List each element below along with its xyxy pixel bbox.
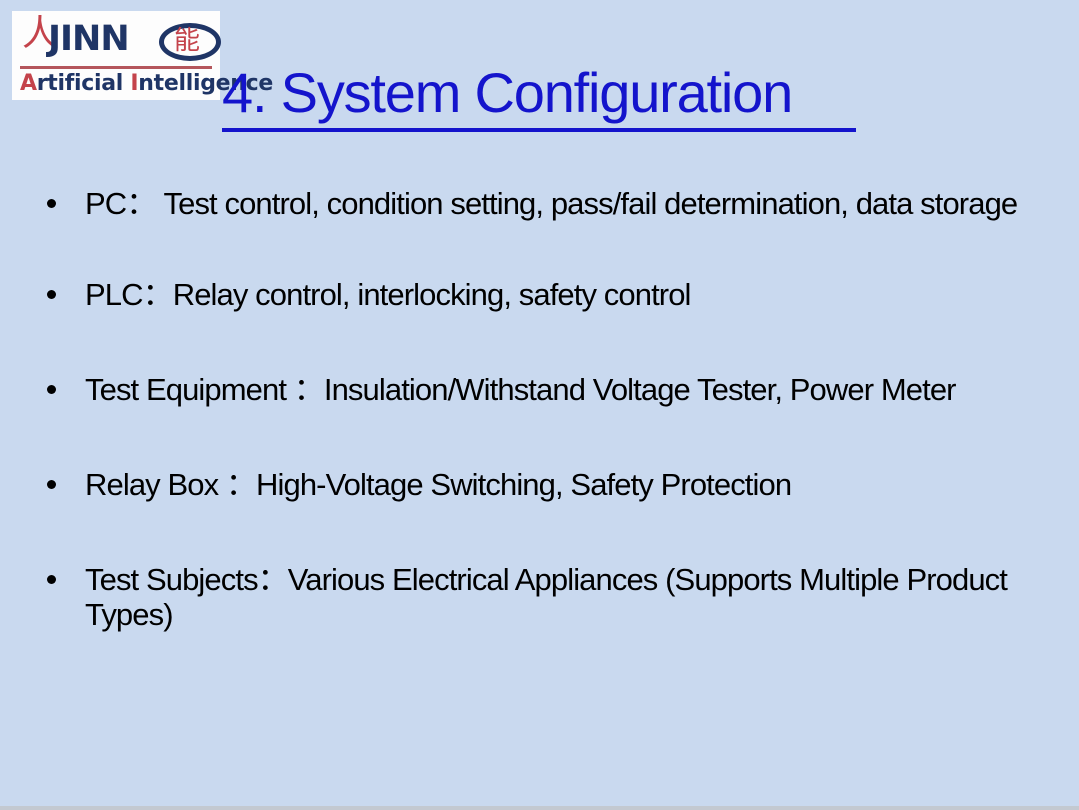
bullet-dot-icon bbox=[47, 480, 56, 489]
bullet-dot-icon bbox=[47, 290, 56, 299]
logo-mark: 人 JINN 能 bbox=[20, 15, 212, 67]
logo-wordmark: JINN bbox=[48, 22, 129, 57]
bullet-dot-icon bbox=[47, 199, 56, 208]
list-item-label: Test Equipment ：Insulation/Withstand Vol… bbox=[85, 372, 1050, 407]
bullet-dot-icon bbox=[47, 575, 56, 584]
logo-neng-character-icon: 能 bbox=[174, 27, 200, 55]
list-item-label: PC： Test control, condition setting, pas… bbox=[85, 186, 1050, 221]
list-item: PC： Test control, condition setting, pas… bbox=[40, 186, 1050, 221]
company-logo: 人 JINN 能 Artificial Intelligence bbox=[12, 11, 220, 100]
list-item: PLC：Relay control, interlocking, safety … bbox=[40, 277, 1050, 312]
logo-subtitle-rtificial: rtificial bbox=[37, 71, 131, 96]
slide-canvas: 人 JINN 能 Artificial Intelligence 4. Syst… bbox=[0, 0, 1079, 810]
list-item: Test Equipment ：Insulation/Withstand Vol… bbox=[40, 372, 1050, 407]
list-item: Relay Box ：High-Voltage Switching, Safet… bbox=[40, 467, 1050, 502]
list-item-label: Test Subjects：Various Electrical Applian… bbox=[85, 562, 1050, 632]
logo-subtitle: Artificial Intelligence bbox=[20, 72, 212, 96]
list-item-label: PLC：Relay control, interlocking, safety … bbox=[85, 277, 1050, 312]
bullet-dot-icon bbox=[47, 385, 56, 394]
list-item: Test Subjects：Various Electrical Applian… bbox=[40, 562, 1050, 632]
list-item-label: Relay Box ：High-Voltage Switching, Safet… bbox=[85, 467, 1050, 502]
slide-title-underline bbox=[222, 128, 856, 132]
slide-title: 4. System Configuration bbox=[222, 63, 792, 123]
bullet-list: PC： Test control, condition setting, pas… bbox=[40, 186, 1050, 632]
logo-subtitle-a: A bbox=[20, 71, 37, 96]
